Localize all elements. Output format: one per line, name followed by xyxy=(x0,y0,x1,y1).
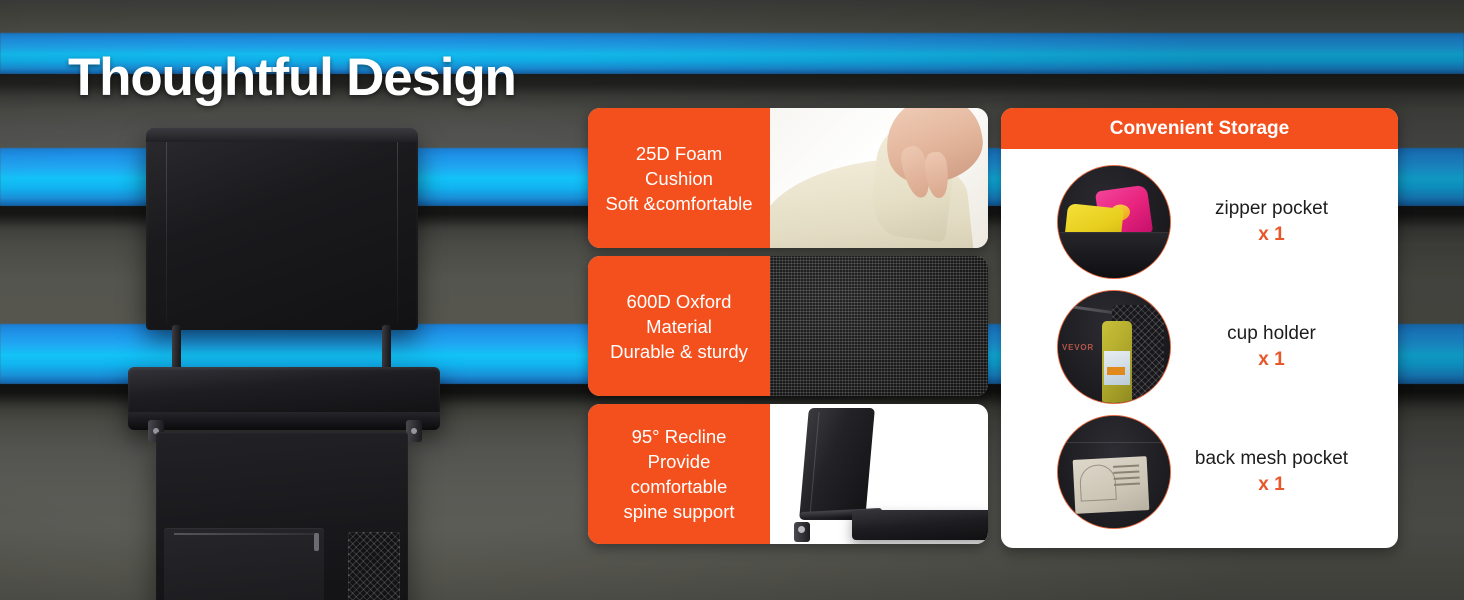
feature-card-text-panel: 600D Oxford Material Durable & sturdy xyxy=(588,256,770,396)
feature-line: 25D Foam xyxy=(636,141,722,166)
storage-item-count: x 1 xyxy=(1171,347,1372,373)
thumbnail-brand-logo: VEVOR xyxy=(1062,343,1094,352)
zipper-line-icon xyxy=(174,533,318,535)
feature-line: Material xyxy=(646,314,712,339)
storage-panel-title: Convenient Storage xyxy=(1110,118,1289,140)
feature-media-reclined-chair xyxy=(770,404,988,544)
cup-holder-thumbnail: VEVOR xyxy=(1057,290,1171,404)
feature-media-foam-squeeze xyxy=(770,108,988,248)
feature-line: 95° Recline xyxy=(632,424,727,449)
reclined-chair-photo xyxy=(770,404,988,544)
bottle-in-cup-holder-photo: VEVOR xyxy=(1058,291,1170,403)
frame-leg-right xyxy=(382,325,391,370)
storage-item-zipper-pocket[interactable]: zipper pocket x 1 xyxy=(1001,159,1398,284)
storage-item-back-mesh-pocket[interactable]: back mesh pocket x 1 xyxy=(1001,409,1398,534)
storage-item-label: back mesh pocket xyxy=(1171,446,1372,472)
feature-card-recline-support[interactable]: 95° Recline Provide comfortable spine su… xyxy=(588,404,988,544)
snacks-in-zipper-pocket-photo xyxy=(1058,166,1170,278)
feature-media-oxford-fabric xyxy=(770,256,988,396)
bottle-shape xyxy=(1102,321,1132,403)
page-title: Thoughtful Design xyxy=(68,47,516,108)
feature-line: Provide xyxy=(648,449,711,474)
cup-holder-caption: cup holder x 1 xyxy=(1171,321,1398,373)
zipper-pocket-caption: zipper pocket x 1 xyxy=(1171,196,1398,248)
feature-card-list: 25D Foam Cushion Soft &comfortable 600D … xyxy=(588,108,988,544)
seat-storage-bag: VEVOR xyxy=(156,432,408,600)
chair-seat-shape xyxy=(852,510,988,540)
document-in-mesh-pocket-photo xyxy=(1058,416,1170,528)
storage-item-label: cup holder xyxy=(1171,321,1372,347)
storage-item-cup-holder[interactable]: VEVOR cup holder x 1 xyxy=(1001,284,1398,409)
zipper-pocket-thumbnail xyxy=(1057,165,1171,279)
bag-mesh-pocket xyxy=(348,532,400,600)
convenient-storage-panel: Convenient Storage zipper pocket x 1 xyxy=(1001,108,1398,548)
feature-line: 600D Oxford xyxy=(627,289,732,314)
storage-item-count: x 1 xyxy=(1171,472,1372,498)
chair-backrest-shape xyxy=(799,408,875,520)
feature-line: Soft &comfortable xyxy=(605,191,752,216)
feature-card-oxford-material[interactable]: 600D Oxford Material Durable & sturdy xyxy=(588,256,988,396)
seat-cushion-front xyxy=(128,412,440,430)
product-feature-banner: Thoughtful Design VEVOR 25D Foam Cushion… xyxy=(0,0,1464,600)
pocket-flap-shape xyxy=(1058,232,1170,278)
seat-backrest xyxy=(146,130,418,330)
storage-item-count: x 1 xyxy=(1171,222,1372,248)
storage-item-label: zipper pocket xyxy=(1171,196,1372,222)
foam-photo xyxy=(770,108,988,248)
feature-line: Cushion xyxy=(645,166,713,191)
back-mesh-pocket-caption: back mesh pocket x 1 xyxy=(1171,446,1398,498)
product-image-stadium-seat: VEVOR xyxy=(120,120,450,600)
feature-card-text-panel: 25D Foam Cushion Soft &comfortable xyxy=(588,108,770,248)
feature-line: spine support xyxy=(623,499,734,524)
bottle-label-shape xyxy=(1104,351,1130,385)
feature-card-foam-cushion[interactable]: 25D Foam Cushion Soft &comfortable xyxy=(588,108,988,248)
storage-item-list: zipper pocket x 1 VEVOR cup xyxy=(1001,149,1398,534)
frame-leg-left xyxy=(172,325,181,370)
document-shape xyxy=(1073,456,1150,514)
oxford-fabric-photo xyxy=(770,256,988,396)
back-mesh-pocket-thumbnail xyxy=(1057,415,1171,529)
seam-line-shape xyxy=(1058,442,1170,443)
bag-zipper-pocket xyxy=(164,528,324,600)
chair-hinge-foot-icon xyxy=(794,522,810,542)
feature-card-text-panel: 95° Recline Provide comfortable spine su… xyxy=(588,404,770,544)
zipper-pull-icon xyxy=(314,533,319,551)
feature-line: comfortable xyxy=(631,474,728,499)
seat-backrest-top-edge xyxy=(146,128,418,142)
feature-line: Durable & sturdy xyxy=(610,339,748,364)
storage-panel-header: Convenient Storage xyxy=(1001,108,1398,149)
hinge-right-icon xyxy=(406,420,422,442)
